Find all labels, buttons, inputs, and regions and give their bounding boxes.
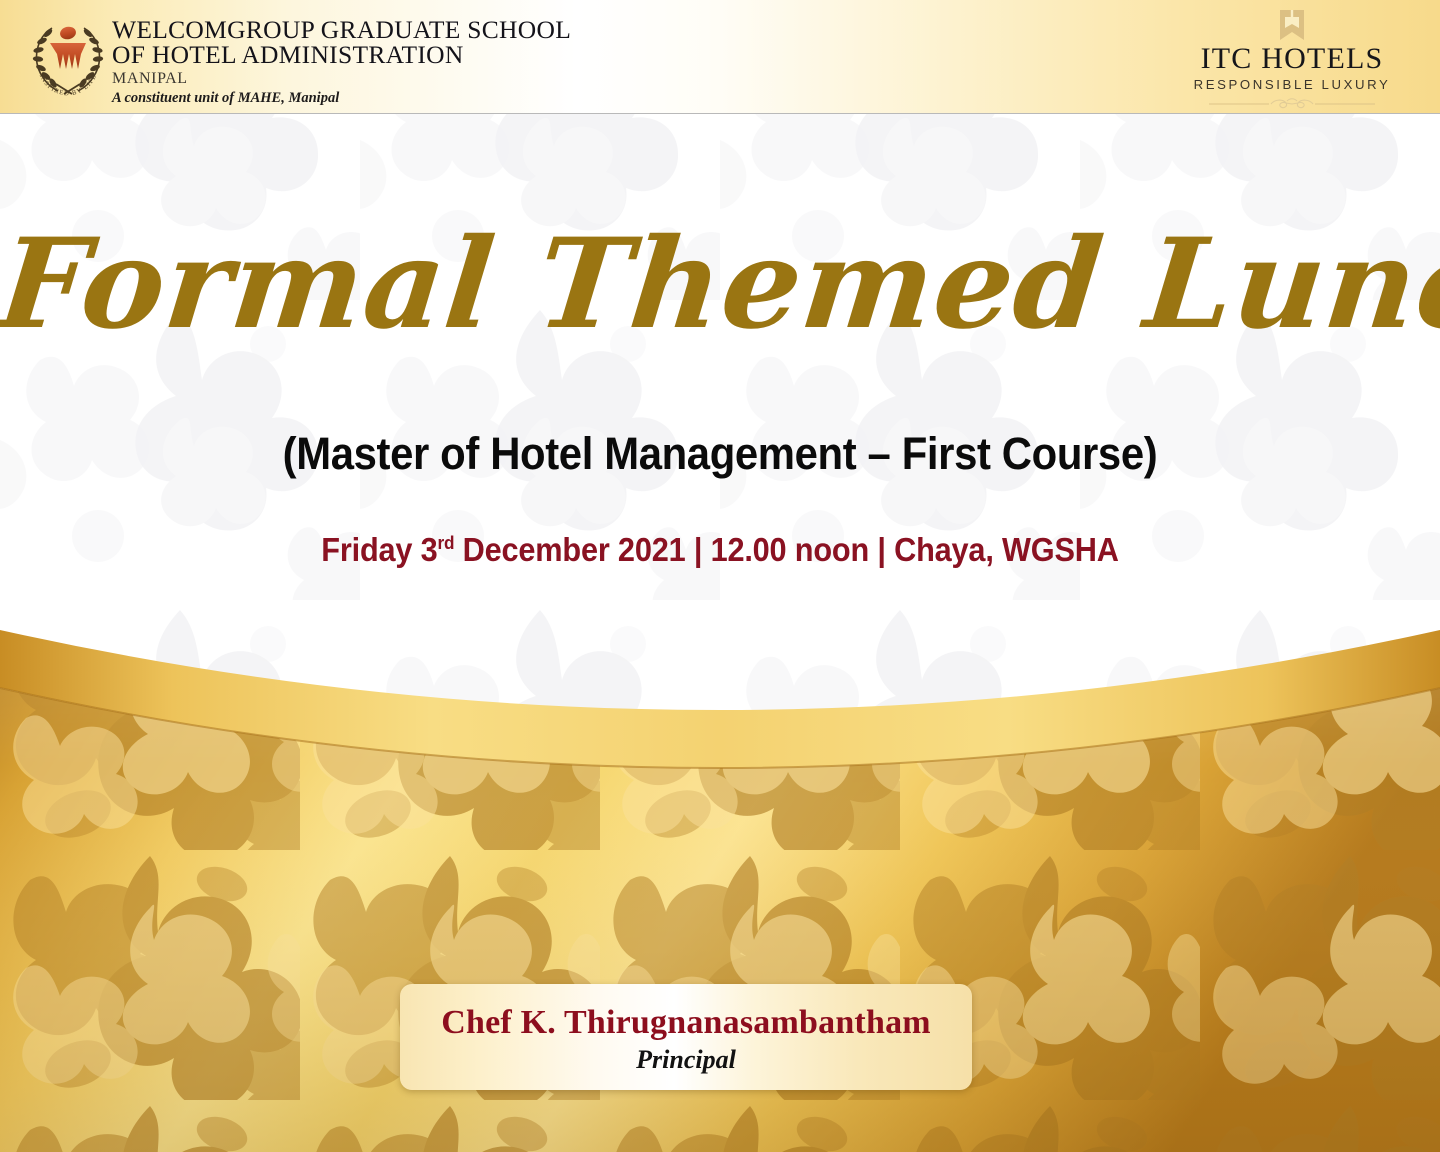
institution-name-block: WELCOMGROUP GRADUATE SCHOOL OF HOTEL ADM… bbox=[112, 17, 672, 107]
institution-line-1: WELCOMGROUP GRADUATE SCHOOL bbox=[112, 17, 672, 42]
event-details-line: Friday 3rd December 2021 | 12.00 noon | … bbox=[50, 530, 1389, 570]
event-date-ordinal: rd bbox=[438, 532, 455, 553]
speaker-nameplate: Chef K. Thirugnanasambantham Principal bbox=[400, 984, 972, 1090]
institution-city: MANIPAL bbox=[112, 69, 672, 88]
event-venue: Chaya, WGSHA bbox=[894, 531, 1119, 568]
scroll-flourish-divider-icon bbox=[1207, 97, 1377, 111]
itc-hotels-logo: ITC HOTELS RESPONSIBLE LUXURY bbox=[1192, 8, 1392, 108]
details-separator-1: | bbox=[694, 531, 702, 568]
event-day: Friday bbox=[321, 531, 412, 568]
event-subtitle: (Master of Hotel Management – First Cour… bbox=[50, 428, 1389, 480]
institution-affiliation: A constituent unit of MAHE, Manipal bbox=[112, 89, 672, 107]
details-separator-2: | bbox=[877, 531, 885, 568]
event-title: Formal Themed Lunch 2021 bbox=[0, 224, 1440, 346]
itc-brand-name: ITC HOTELS bbox=[1192, 44, 1392, 74]
header-bar: INSPIRED BY LIFE WELCOMGROUP GRADUATE SC… bbox=[0, 0, 1440, 114]
chef-designation: Principal bbox=[636, 1045, 736, 1075]
itc-bookmark-icon bbox=[1275, 8, 1309, 42]
wgsha-crest-icon: INSPIRED BY LIFE bbox=[26, 12, 110, 102]
event-date-number: 3 bbox=[421, 531, 438, 568]
chef-name: Chef K. Thirugnanasambantham bbox=[441, 1003, 931, 1043]
event-month-year: December 2021 bbox=[463, 531, 686, 568]
event-time: 12.00 noon bbox=[711, 531, 869, 568]
event-poster: INSPIRED BY LIFE WELCOMGROUP GRADUATE SC… bbox=[0, 0, 1440, 1152]
institution-line-2: OF HOTEL ADMINISTRATION bbox=[112, 42, 672, 67]
itc-tagline: RESPONSIBLE LUXURY bbox=[1192, 77, 1392, 93]
